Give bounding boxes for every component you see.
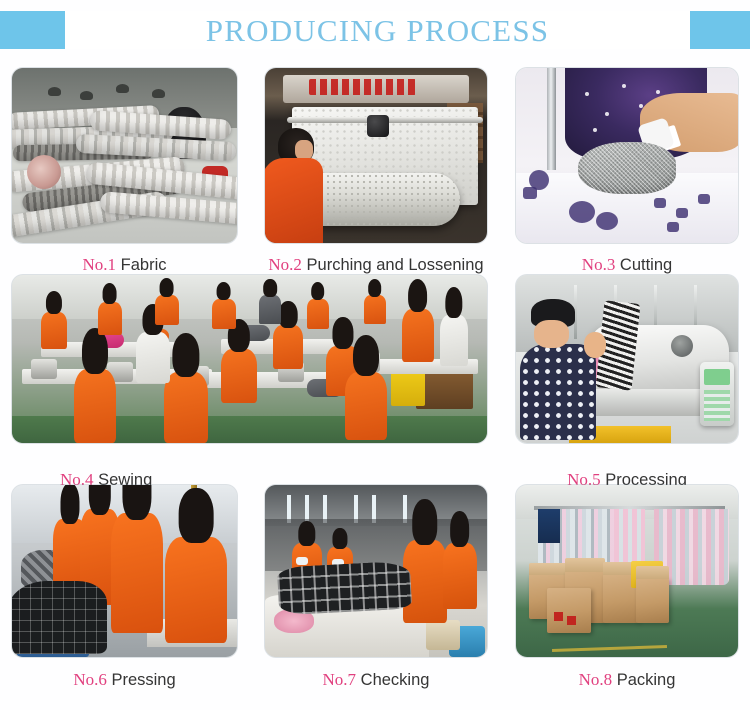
step-7-image <box>265 485 487 657</box>
step-6-caption: No.6 Pressing <box>12 671 237 689</box>
process-step-3[interactable]: No.3 Cutting <box>516 68 738 243</box>
producing-process-page: PRODUCING PROCESS <box>0 0 750 710</box>
step-6-number: No.6 <box>73 670 107 689</box>
step-6-label: Pressing <box>111 671 175 689</box>
process-step-7[interactable]: No.7 Checking <box>265 485 487 657</box>
process-step-6[interactable]: No.6 Pressing <box>12 485 237 657</box>
step-6-image <box>12 485 237 657</box>
step-8-number: No.8 <box>579 670 613 689</box>
process-step-1[interactable]: No.1 Fabric <box>12 68 237 243</box>
process-step-2[interactable]: No.2 Purching and Lossening <box>265 68 487 243</box>
step-8-label: Packing <box>617 671 676 689</box>
step-2-number: No.2 <box>268 255 302 274</box>
step-1-label: Fabric <box>121 256 167 274</box>
step-4-image <box>12 275 487 443</box>
process-grid: No.1 Fabric <box>0 60 750 710</box>
step-5-image <box>516 275 738 443</box>
process-step-8[interactable]: No.8 Packing <box>516 485 738 657</box>
step-7-label: Checking <box>361 671 430 689</box>
step-3-image <box>516 68 738 243</box>
step-1-image <box>12 68 237 243</box>
step-3-label: Cutting <box>620 256 672 274</box>
step-8-caption: No.8 Packing <box>516 671 738 689</box>
process-step-5[interactable]: No.5 Processing <box>516 275 738 443</box>
step-2-caption: No.2 Purching and Lossening <box>265 256 487 274</box>
header-title-box: PRODUCING PROCESS <box>65 11 690 49</box>
step-3-caption: No.3 Cutting <box>516 256 738 274</box>
step-2-label: Purching and Lossening <box>307 256 484 274</box>
process-step-4[interactable]: No.4 Sewing <box>12 275 487 443</box>
step-1-number: No.1 <box>83 255 117 274</box>
step-1-caption: No.1 Fabric <box>12 256 237 274</box>
step-3-number: No.3 <box>582 255 616 274</box>
step-2-image <box>265 68 487 243</box>
step-7-number: No.7 <box>323 670 357 689</box>
step-8-image <box>516 485 738 657</box>
step-7-caption: No.7 Checking <box>265 671 487 689</box>
page-title: PRODUCING PROCESS <box>206 15 549 46</box>
